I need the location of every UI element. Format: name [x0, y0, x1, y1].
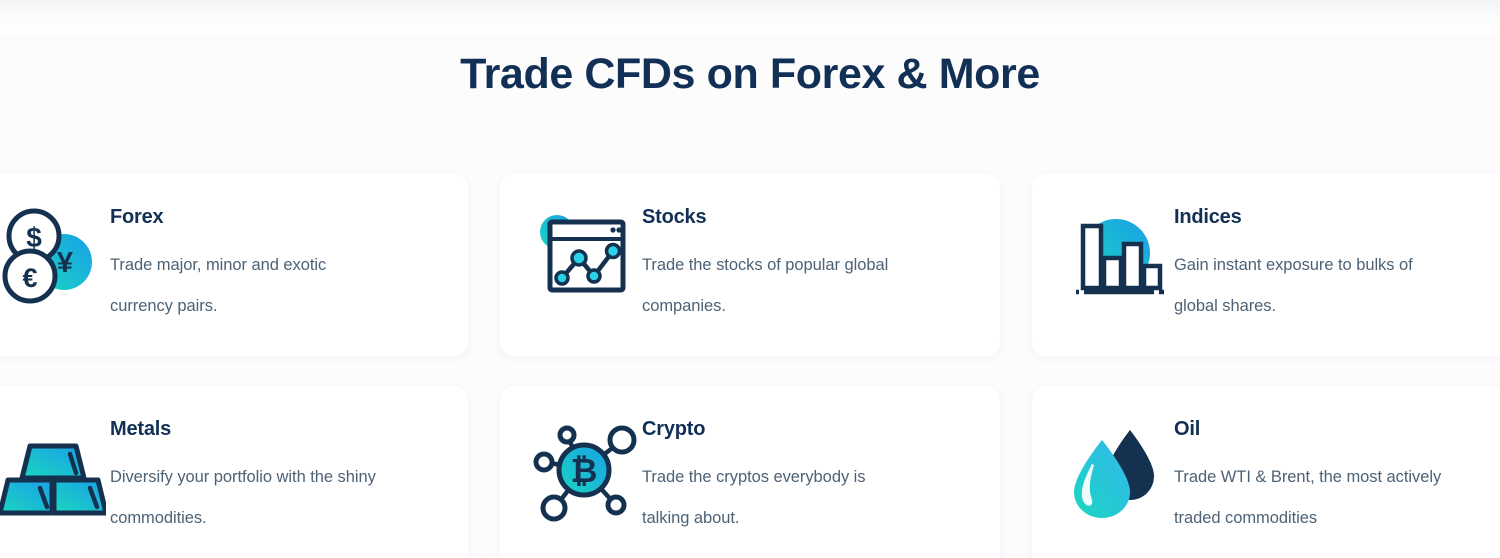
product-card-crypto[interactable]: ₿ Crypto Trade the cryptos everybody is … [500, 386, 1000, 558]
card-desc-oil-line2: traded commodities [1174, 498, 1500, 539]
card-text-crypto: Crypto Trade the cryptos everybody is ta… [642, 414, 974, 539]
card-title-oil: Oil [1174, 418, 1500, 441]
product-card-stocks[interactable]: Stocks Trade the stocks of popular globa… [500, 174, 1000, 356]
metals-gold-bars-icon [0, 414, 110, 534]
card-desc-forex-line2: currency pairs. [110, 286, 442, 327]
product-card-indices[interactable]: Indices Gain instant exposure to bulks o… [1032, 174, 1500, 356]
svg-text:$: $ [26, 222, 42, 253]
card-desc-metals-line1: Diversify your portfolio with the shiny [110, 457, 442, 498]
svg-text:€: € [22, 263, 37, 293]
product-card-oil[interactable]: Oil Trade WTI & Brent, the most actively… [1032, 386, 1500, 558]
card-desc-stocks-line1: Trade the stocks of popular global [642, 245, 974, 286]
card-text-metals: Metals Diversify your portfolio with the… [110, 414, 442, 539]
card-text-forex: Forex Trade major, minor and exotic curr… [110, 202, 442, 327]
card-title-metals: Metals [110, 418, 442, 441]
crypto-bitcoin-network-icon: ₿ [526, 414, 642, 534]
card-text-oil: Oil Trade WTI & Brent, the most actively… [1174, 414, 1500, 539]
card-desc-oil-line1: Trade WTI & Brent, the most actively [1174, 457, 1500, 498]
page-title: Trade CFDs on Forex & More [0, 50, 1500, 99]
card-desc-crypto-line1: Trade the cryptos everybody is [642, 457, 974, 498]
product-card-grid: $ € ¥ Forex Trade major, minor and exoti… [0, 174, 1500, 558]
oil-droplets-icon [1058, 414, 1174, 534]
product-card-forex[interactable]: $ € ¥ Forex Trade major, minor and exoti… [0, 174, 468, 356]
card-desc-metals-line2: commodities. [110, 498, 442, 539]
indices-bar-chart-icon [1058, 202, 1174, 322]
card-text-indices: Indices Gain instant exposure to bulks o… [1174, 202, 1500, 327]
card-title-forex: Forex [110, 206, 442, 229]
stocks-chart-window-icon [526, 202, 642, 322]
card-title-crypto: Crypto [642, 418, 974, 441]
card-desc-crypto-line2: talking about. [642, 498, 974, 539]
forex-coins-icon: $ € ¥ [0, 202, 110, 322]
card-text-stocks: Stocks Trade the stocks of popular globa… [642, 202, 974, 327]
card-desc-indices-line2: global shares. [1174, 286, 1500, 327]
card-title-indices: Indices [1174, 206, 1500, 229]
svg-text:¥: ¥ [57, 247, 73, 279]
svg-text:₿: ₿ [571, 452, 598, 489]
card-desc-forex-line1: Trade major, minor and exotic [110, 245, 442, 286]
product-card-metals[interactable]: Metals Diversify your portfolio with the… [0, 386, 468, 558]
card-title-stocks: Stocks [642, 206, 974, 229]
card-desc-stocks-line2: companies. [642, 286, 974, 327]
page-root: Trade CFDs on Forex & More $ € ¥ [0, 0, 1500, 558]
card-desc-indices-line1: Gain instant exposure to bulks of [1174, 245, 1500, 286]
